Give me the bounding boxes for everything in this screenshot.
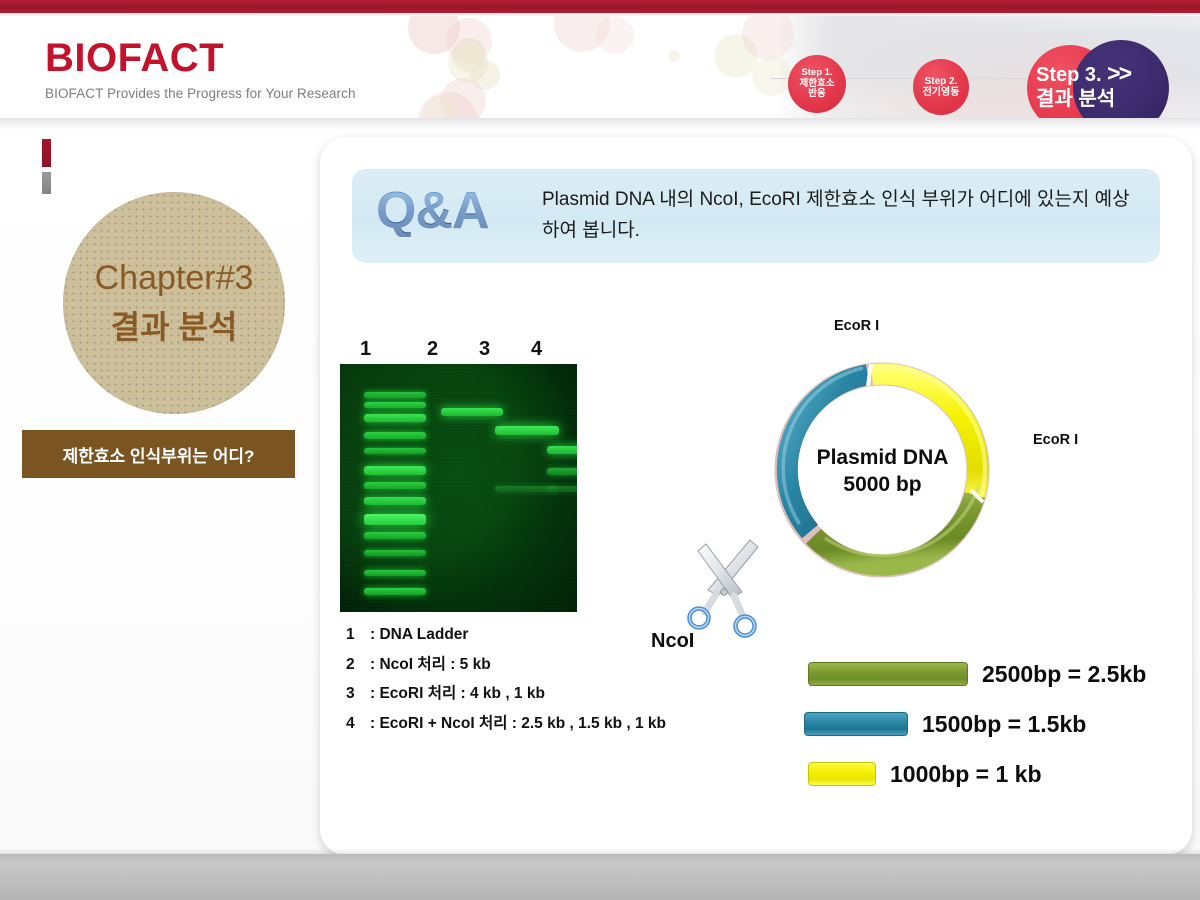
label-ecori-right: EcoR I bbox=[1033, 432, 1078, 448]
gel-legend-text: : NcoI 처리 : 5 kb bbox=[370, 657, 816, 673]
scissors-icon bbox=[672, 534, 782, 644]
gel-lane-number-3: 3 bbox=[479, 338, 490, 361]
gel-legend-text: : EcoRI 처리 : 4 kb , 1 kb bbox=[370, 686, 816, 702]
gel-lane-legend: 1 : DNA Ladder 2 : NcoI 처리 : 5 kb 3 : Ec… bbox=[346, 627, 816, 745]
gel-legend-number: 2 bbox=[346, 657, 370, 673]
gel-lane-number-2: 2 bbox=[427, 338, 438, 361]
gel-legend-number: 3 bbox=[346, 686, 370, 702]
gel-band-ladder bbox=[364, 414, 426, 422]
step-badge-2[interactable]: Step 2. 전기영동 bbox=[913, 59, 969, 115]
size-legend-row: 1000bp = 1 kb bbox=[808, 759, 1042, 789]
chapter-badge: Chapter#3 결과 분석 bbox=[63, 192, 285, 414]
gel-lane-number-row: 1 2 3 4 bbox=[345, 338, 595, 362]
gel-band-ladder bbox=[364, 432, 426, 439]
legend-swatch-blue bbox=[804, 712, 908, 736]
gel-legend-row: 2 : NcoI 처리 : 5 kb bbox=[346, 657, 816, 673]
legend-swatch-yellow bbox=[808, 762, 876, 786]
gel-band-lane4 bbox=[547, 486, 577, 492]
gel-band-lane2 bbox=[441, 408, 503, 416]
step-badge-3-label: Step 3. >> 결과 분석 bbox=[1036, 59, 1186, 112]
qa-logo: Q&A bbox=[352, 187, 542, 236]
step-badge-1[interactable]: Step 1. 제한효소 반응 bbox=[788, 55, 846, 113]
plasmid-center-label: Plasmid DNA 5000 bp bbox=[755, 445, 1010, 499]
rail-marker-red bbox=[42, 139, 51, 167]
gel-lane-number-4: 4 bbox=[531, 338, 542, 361]
step-2-line1: Step 2. bbox=[925, 76, 958, 87]
gel-band-ladder bbox=[364, 448, 426, 454]
footer-bar bbox=[0, 854, 1200, 900]
chapter-number: Chapter#3 bbox=[95, 260, 254, 297]
gel-band-ladder bbox=[364, 392, 426, 398]
topic-tag-button[interactable]: 제한효소 인식부위는 어디? bbox=[22, 430, 295, 478]
brand-logo: BIOFACT BIOFACT Provides the Progress fo… bbox=[45, 38, 356, 101]
gel-lane-number-1: 1 bbox=[360, 338, 371, 361]
gel-band-lane3 bbox=[495, 426, 559, 435]
gel-band-ladder bbox=[364, 482, 426, 489]
qa-banner: Q&A Plasmid DNA 내의 NcoI, EcoRI 제한효소 인식 부… bbox=[352, 169, 1160, 263]
gel-band-ladder bbox=[364, 550, 426, 556]
gel-band-lane4 bbox=[547, 468, 577, 475]
plasmid-map: Plasmid DNA 5000 bp bbox=[755, 340, 1010, 602]
brand-name: BIOFACT bbox=[45, 38, 356, 78]
plasmid-size: 5000 bp bbox=[755, 472, 1010, 499]
legend-label-1000bp: 1000bp = 1 kb bbox=[890, 761, 1042, 788]
step-3-line1: Step 3. bbox=[1036, 64, 1102, 86]
size-legend-row: 1500bp = 1.5kb bbox=[804, 709, 1086, 739]
step-3-line2: 결과 분석 bbox=[1036, 87, 1186, 111]
legend-label-1500bp: 1500bp = 1.5kb bbox=[922, 711, 1086, 738]
page-header: BIOFACT BIOFACT Provides the Progress fo… bbox=[0, 16, 1200, 118]
label-ecori-top: EcoR I bbox=[834, 318, 879, 334]
gel-legend-text: : EcoRI + NcoI 처리 : 2.5 kb , 1.5 kb , 1 … bbox=[370, 716, 816, 732]
gel-legend-row: 4 : EcoRI + NcoI 처리 : 2.5 kb , 1.5 kb , … bbox=[346, 716, 816, 732]
gel-band-ladder bbox=[364, 497, 426, 505]
gel-band-ladder bbox=[364, 402, 426, 408]
gel-band-ladder bbox=[364, 466, 426, 475]
legend-swatch-green bbox=[808, 662, 968, 686]
size-legend-row: 2500bp = 2.5kb bbox=[808, 659, 1146, 689]
gel-electrophoresis-image bbox=[340, 364, 577, 612]
gel-legend-number: 4 bbox=[346, 716, 370, 732]
rail-marker-gray bbox=[42, 172, 51, 194]
gel-band-lane4 bbox=[547, 446, 577, 454]
step-1-line3: 반응 bbox=[808, 89, 825, 100]
gel-band-ladder bbox=[364, 588, 426, 595]
chapter-title: 결과 분석 bbox=[111, 308, 238, 346]
plasmid-name: Plasmid DNA bbox=[755, 445, 1010, 472]
brand-tagline: BIOFACT Provides the Progress for Your R… bbox=[45, 86, 356, 101]
header-shadow bbox=[0, 118, 1200, 130]
gel-band-ladder bbox=[364, 570, 426, 576]
gel-legend-row: 3 : EcoRI 처리 : 4 kb , 1 kb bbox=[346, 686, 816, 702]
gel-band-ladder bbox=[364, 514, 426, 525]
fragment-size-legend: 2500bp = 2.5kb 1500bp = 1.5kb 1000bp = 1… bbox=[800, 655, 1192, 795]
step-indicator-group: Step 1. 제한효소 반응 Step 2. 전기영동 Step 3. >> … bbox=[770, 32, 1200, 118]
legend-label-2500bp: 2500bp = 2.5kb bbox=[982, 661, 1146, 688]
gel-band-ladder bbox=[364, 532, 426, 539]
qa-question-text: Plasmid DNA 내의 NcoI, EcoRI 제한효소 인식 부위가 어… bbox=[542, 185, 1160, 247]
gel-legend-number: 1 bbox=[346, 627, 370, 643]
top-accent-bar bbox=[0, 0, 1200, 13]
chevron-right-icon: >> bbox=[1107, 60, 1130, 86]
step-2-line2: 전기영동 bbox=[923, 87, 960, 98]
